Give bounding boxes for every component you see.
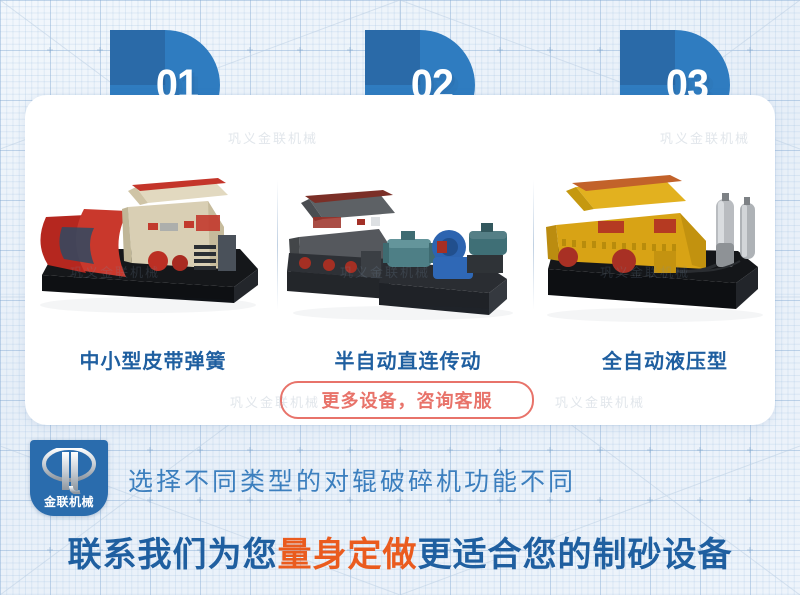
logo-jl-monogram-icon <box>38 448 100 494</box>
headline-prefix: 联系我们为您 <box>68 536 278 574</box>
footer-headline: 联系我们为您量身定做更适合您的制砂设备 <box>0 527 800 576</box>
headline-suffix: 更适合您的制砂设备 <box>418 536 733 574</box>
logo-wordmark: 金联机械 <box>30 493 108 510</box>
product-label-3: 全自动液压型 <box>540 345 790 374</box>
contact-support-cta-button[interactable]: 更多设备，咨询客服 <box>280 381 534 419</box>
company-logo: 金联机械 <box>30 440 108 516</box>
product-label-1: 中小型皮带弹簧 <box>28 345 278 374</box>
tagline: 选择不同类型的对辊破碎机功能不同 <box>128 462 576 498</box>
promo-banner: 01 02 03 <box>0 0 800 595</box>
machine-photo-1 <box>28 165 278 325</box>
headline-highlight: 量身定做 <box>278 536 418 574</box>
column-divider <box>533 180 534 310</box>
product-label-2: 半自动直连传动 <box>283 345 533 374</box>
machine-photo-3 <box>540 165 790 325</box>
machine-photo-2 <box>283 165 533 325</box>
